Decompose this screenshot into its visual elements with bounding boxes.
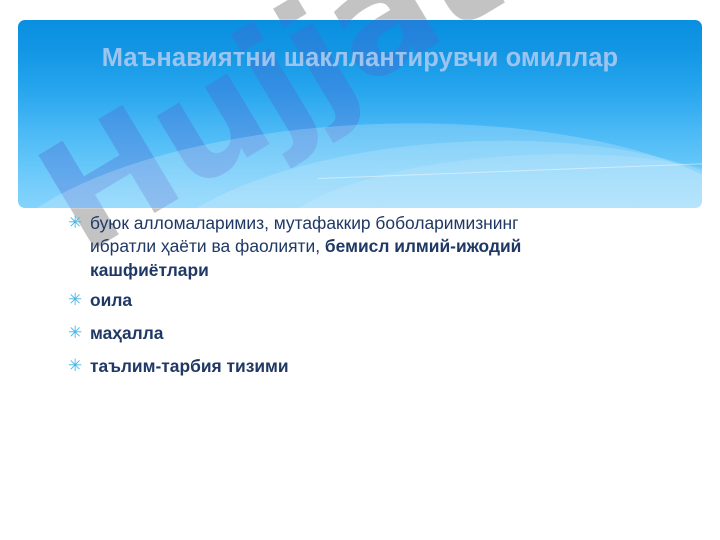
list-item-text: буюк алломаларимиз, мутафаккир боболарим… <box>90 212 545 282</box>
bullet-list: ✳ буюк алломаларимиз, мутафаккир боболар… <box>0 212 720 379</box>
banner-wave-line <box>318 162 702 180</box>
banner-wave-shape-3 <box>266 143 702 208</box>
list-item-text: таълим-тарбия тизими <box>90 355 545 378</box>
list-item-text: оила <box>90 289 545 312</box>
slide-title: Маънавиятни шакллантирувчи омиллар <box>18 42 702 75</box>
asterisk-bullet-icon: ✳ <box>68 355 90 378</box>
list-item: ✳ буюк алломаларимиз, мутафаккир боболар… <box>0 212 720 282</box>
asterisk-bullet-icon: ✳ <box>68 289 90 312</box>
list-item: ✳ таълим-тарбия тизими <box>0 355 720 378</box>
list-item: ✳ маҳалла <box>0 322 720 345</box>
title-banner: Hujjat24 Маънавиятни шакллантирувчи омил… <box>18 20 702 208</box>
asterisk-bullet-icon: ✳ <box>68 322 90 345</box>
banner-wave-shape-2 <box>135 123 702 208</box>
banner-wave-shape-1 <box>18 109 702 208</box>
presentation-slide: Hujjat24 Hujjat24 Маънавиятни шакллантир… <box>0 0 720 540</box>
list-item-text: маҳалла <box>90 322 545 345</box>
asterisk-bullet-icon: ✳ <box>68 212 90 235</box>
list-item: ✳ оила <box>0 289 720 312</box>
